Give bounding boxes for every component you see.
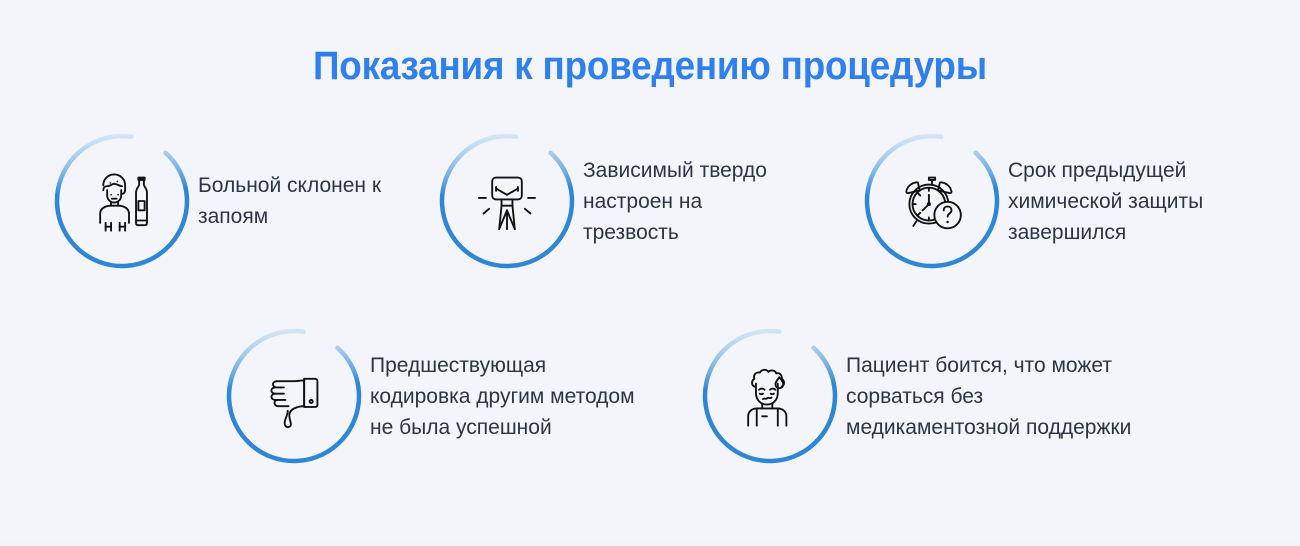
indication-text-5: Пациент боится, что может сорваться без …	[846, 350, 1216, 443]
indication-item-2: Зависимый твердо настроен на трезвость	[437, 131, 813, 271]
badge-circle-1	[52, 131, 192, 271]
alarm-clock-question-icon	[862, 131, 1002, 271]
worried-person-icon	[700, 326, 840, 466]
indication-item-4: Предшествующая кодировка другим методом …	[224, 326, 710, 466]
thumbs-down-icon	[224, 326, 364, 466]
badge-circle-5	[700, 326, 840, 466]
badge-circle-2	[437, 131, 577, 271]
indication-text-2: Зависимый твердо настроен на трезвость	[583, 155, 813, 248]
determined-person-icon	[437, 131, 577, 271]
indication-item-5: Пациент боится, что может сорваться без …	[700, 326, 1216, 466]
person-with-bottle-icon	[52, 131, 192, 271]
indication-text-1: Больной склонен к запоям	[198, 170, 438, 232]
page-title: Показания к проведению процедуры	[52, 44, 1248, 89]
indication-item-1: Больной склонен к запоям	[52, 131, 438, 271]
indication-item-3: Срок предыдущей химической защиты заверш…	[862, 131, 1263, 271]
badge-circle-4	[224, 326, 364, 466]
badge-circle-3	[862, 131, 1002, 271]
indication-text-3: Срок предыдущей химической защиты заверш…	[1008, 155, 1263, 248]
infographic-canvas: Показания к проведению процедуры	[0, 0, 1300, 546]
indication-text-4: Предшествующая кодировка другим методом …	[370, 350, 710, 443]
